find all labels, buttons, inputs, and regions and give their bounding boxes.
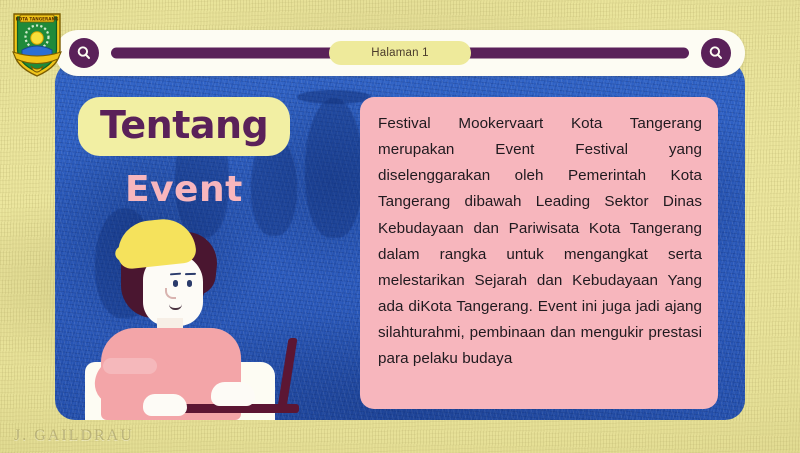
- hand-left: [143, 394, 187, 416]
- search-track[interactable]: Halaman 1: [111, 30, 689, 76]
- page-title: Tentang: [100, 106, 268, 144]
- person-at-laptop-illustration: [95, 218, 345, 420]
- page-indicator[interactable]: Halaman 1: [329, 41, 470, 65]
- page-title-badge: Tentang: [78, 97, 290, 156]
- svg-text:KOTA TANGERANG: KOTA TANGERANG: [16, 17, 59, 22]
- laptop-screen: [277, 338, 297, 408]
- cap: [115, 216, 197, 270]
- description-text: Festival Mookervaart Kota Tangerang meru…: [378, 111, 702, 372]
- top-search-bar[interactable]: Halaman 1: [55, 30, 745, 76]
- eye-right: [187, 280, 192, 287]
- description-card: Festival Mookervaart Kota Tangerang meru…: [360, 97, 718, 409]
- hand-right: [211, 382, 255, 406]
- search-icon[interactable]: [69, 38, 99, 68]
- sleeve: [103, 358, 157, 374]
- eyebrow-right: [185, 273, 196, 275]
- engraved-figure: [305, 98, 363, 238]
- engraving-signature: J. GAILDRAU: [14, 427, 134, 445]
- page-subtitle: Event: [125, 172, 243, 208]
- kota-tangerang-emblem: KOTA TANGERANG: [8, 6, 66, 78]
- search-icon[interactable]: [701, 38, 731, 68]
- slide-canvas: J. GAILDRAU Halaman 1: [0, 0, 800, 453]
- engraved-figure-hat: [297, 90, 371, 104]
- eye-left: [173, 280, 178, 287]
